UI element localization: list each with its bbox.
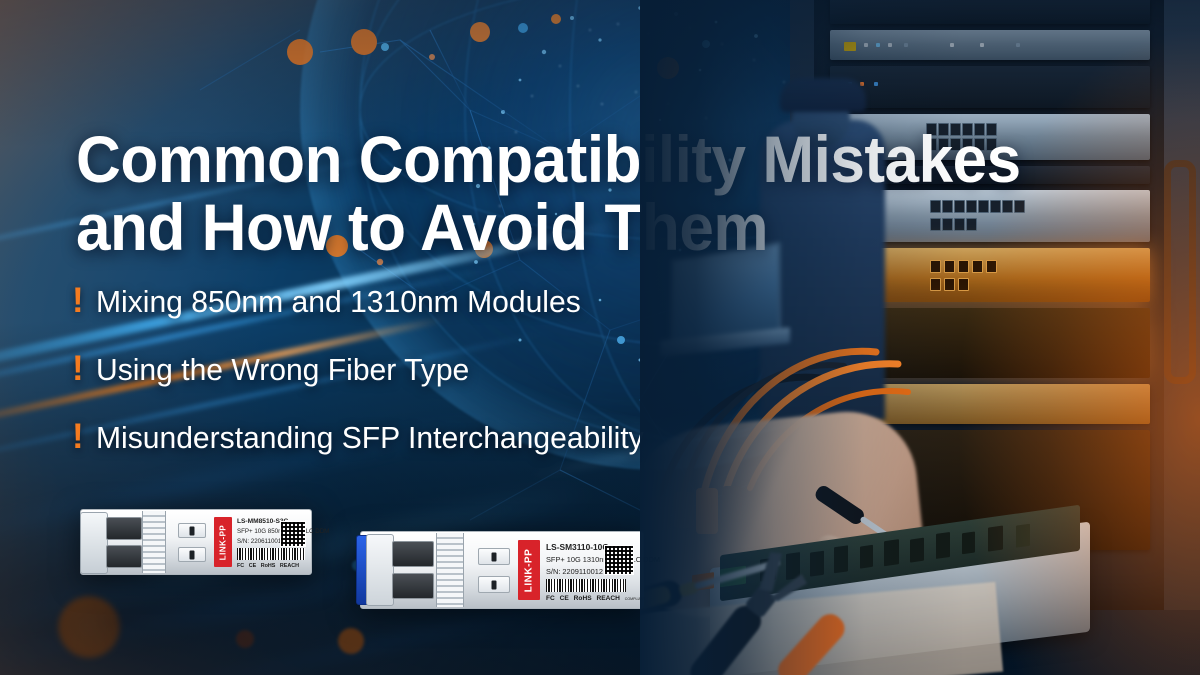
- linkpp-logo-text: LINK-PP: [219, 524, 228, 560]
- linkpp-logo: LINK-PP: [214, 517, 232, 567]
- sfp-serial: S/N: 2209110012: [546, 567, 603, 576]
- headline-line-1: Common Compatibility Mistakes: [76, 122, 1021, 196]
- sfp-module-multimode: LINK-PP LS-MM8510-S3C SFP+ 10G 850nm 300…: [80, 509, 312, 575]
- cert-rohs: RoHS: [574, 595, 592, 602]
- lc-port-rx: [106, 545, 142, 568]
- lc-port-rx: [392, 573, 434, 599]
- cert-reach: REACH: [596, 595, 619, 602]
- sfp-barcode: [237, 548, 305, 560]
- cert-reach: REACH: [280, 563, 299, 569]
- sfp-cage-fins: [142, 511, 166, 573]
- page-title: Common Compatibility Mistakes and How to…: [76, 126, 1072, 262]
- sfp-tab-bottom: [478, 576, 510, 593]
- technician-cap: [780, 78, 866, 112]
- cutting-pliers-tool: [670, 590, 900, 675]
- sfp-tab-top: [178, 523, 206, 538]
- sfp-bail-latch: [80, 512, 108, 574]
- list-item: ! Misunderstanding SFP Interchangeabilit…: [72, 419, 832, 455]
- sfp-tab-top: [478, 548, 510, 565]
- list-item: ! Using the Wrong Fiber Type: [72, 351, 832, 387]
- exclamation-icon: !: [72, 283, 84, 318]
- banner-graphic: Common Compatibility Mistakes and How to…: [0, 0, 1200, 675]
- list-item-label: Mixing 850nm and 1310nm Modules: [96, 285, 581, 319]
- list-item-label: Using the Wrong Fiber Type: [96, 353, 469, 387]
- list-item: ! Mixing 850nm and 1310nm Modules: [72, 283, 832, 319]
- sfp-qr-code: [280, 521, 306, 547]
- sfp-serial: S/N: 2206110012: [237, 538, 285, 545]
- sfp-tab-bottom: [178, 547, 206, 562]
- sfp-spec: SFP+ 10G 1310nm 10km LC DDM: [546, 555, 660, 564]
- cert-compliant-sub: COMPLIANT: [625, 597, 646, 601]
- sfp-cage-fins: [436, 533, 464, 607]
- sfp-qr-code: [604, 545, 634, 575]
- list-item-label: Misunderstanding SFP Interchangeability: [96, 421, 644, 455]
- sfp-body-front: [366, 534, 394, 606]
- lc-port-tx: [106, 517, 142, 540]
- cert-ce: CE: [249, 563, 257, 569]
- headline-line-2: and How to Avoid Them: [76, 194, 1072, 262]
- cert-fc: FC: [546, 595, 555, 602]
- mistakes-list: ! Mixing 850nm and 1310nm Modules ! Usin…: [72, 283, 832, 487]
- sfp-cert-marks: FC CE RoHS REACH: [237, 563, 302, 569]
- cert-ce: CE: [560, 595, 569, 602]
- exclamation-icon: !: [72, 419, 84, 454]
- linkpp-logo-text: LINK-PP: [524, 548, 535, 592]
- sfp-barcode: [546, 579, 626, 592]
- sfp-module-singlemode: LINK-PP LS-SM3110-10C SFP+ 10G 1310nm 10…: [360, 531, 644, 609]
- linkpp-logo: LINK-PP: [518, 540, 540, 600]
- cert-rohs: RoHS: [261, 563, 276, 569]
- lc-port-tx: [392, 541, 434, 567]
- exclamation-icon: !: [72, 351, 84, 386]
- sfp-part-number: LS-SM3110-10C: [546, 542, 608, 552]
- sfp-cert-marks: FC CE RoHS REACH COMPLIANT: [546, 595, 649, 602]
- cert-fc: FC: [237, 563, 244, 569]
